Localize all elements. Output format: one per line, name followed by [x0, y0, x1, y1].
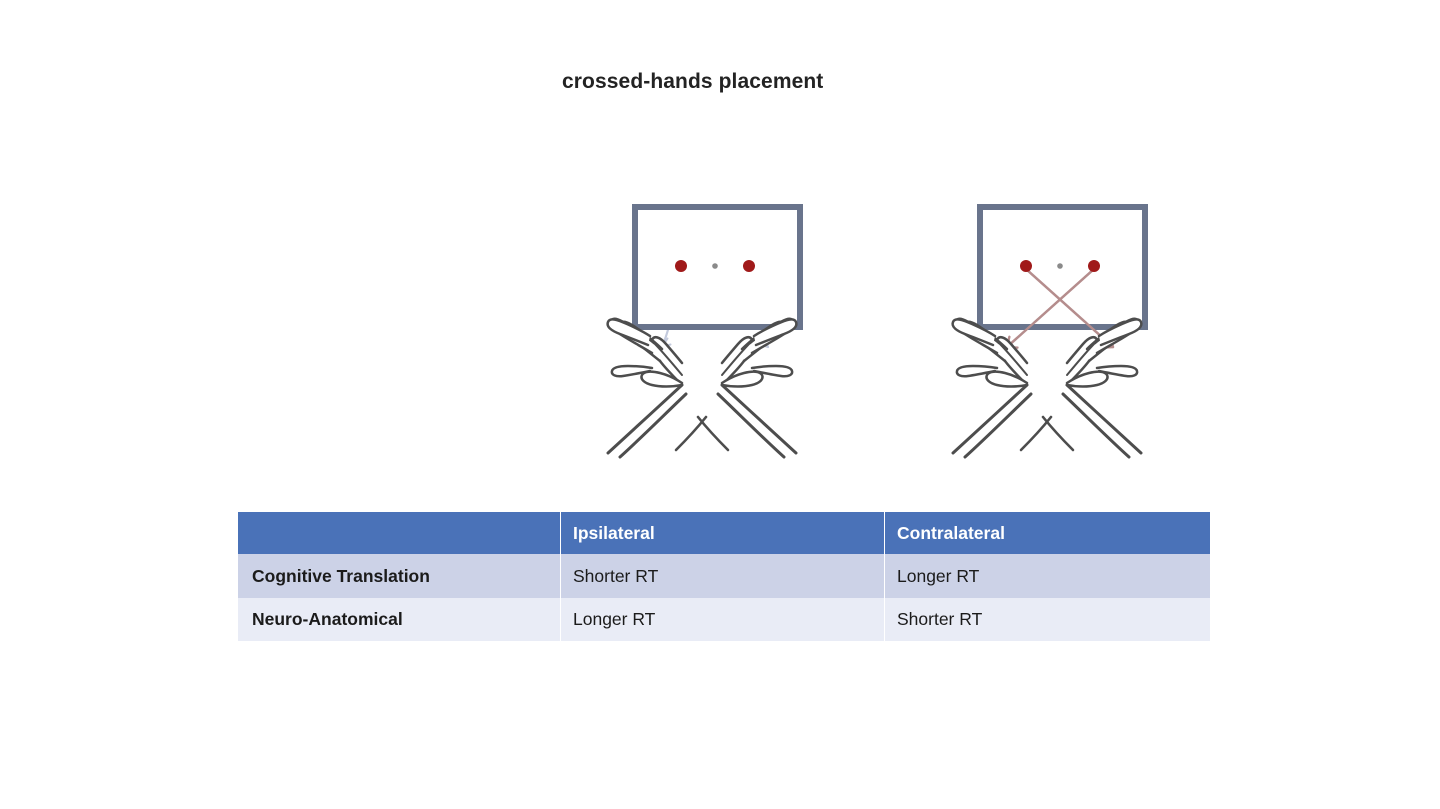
table-row: Cognitive Translation Shorter RT Longer … [238, 554, 1210, 598]
cell-cognitive-ipsilateral: Shorter RT [561, 554, 885, 598]
center-fixation-dot [712, 263, 718, 269]
contralateral-condition-panel [935, 195, 1195, 480]
crossed-hands-illustration [608, 319, 797, 457]
page-title: crossed-hands placement [562, 70, 823, 94]
left-stimulus-dot [1020, 260, 1032, 272]
table-header-cell-ipsilateral: Ipsilateral [561, 512, 885, 554]
cell-cognitive-contralateral: Longer RT [885, 554, 1210, 598]
center-fixation-dot [1057, 263, 1063, 269]
table-header-row: Ipsilateral Contralateral [238, 512, 1210, 554]
table-header-cell-blank [238, 512, 561, 554]
cell-neuro-ipsilateral: Longer RT [561, 598, 885, 641]
ipsilateral-condition-panel [590, 195, 850, 480]
table-header-cell-contralateral: Contralateral [885, 512, 1210, 554]
crossed-hands-illustration [953, 319, 1142, 457]
left-stimulus-dot [675, 260, 687, 272]
right-stimulus-dot [1088, 260, 1100, 272]
right-stimulus-dot [743, 260, 755, 272]
row-label-cognitive-translation: Cognitive Translation [238, 554, 561, 598]
results-table: Ipsilateral Contralateral Cognitive Tran… [238, 512, 1210, 641]
crossed-arrows [1007, 269, 1113, 348]
row-label-neuro-anatomical: Neuro-Anatomical [238, 598, 561, 641]
ipsilateral-diagram-svg [590, 195, 850, 480]
cell-neuro-contralateral: Shorter RT [885, 598, 1210, 641]
contralateral-diagram-svg [935, 195, 1195, 480]
diagram-row [0, 195, 1440, 480]
table-row: Neuro-Anatomical Longer RT Shorter RT [238, 598, 1210, 641]
slide-canvas: crossed-hands placement [0, 0, 1440, 809]
crossed-arrows-overlay [1007, 269, 1113, 348]
